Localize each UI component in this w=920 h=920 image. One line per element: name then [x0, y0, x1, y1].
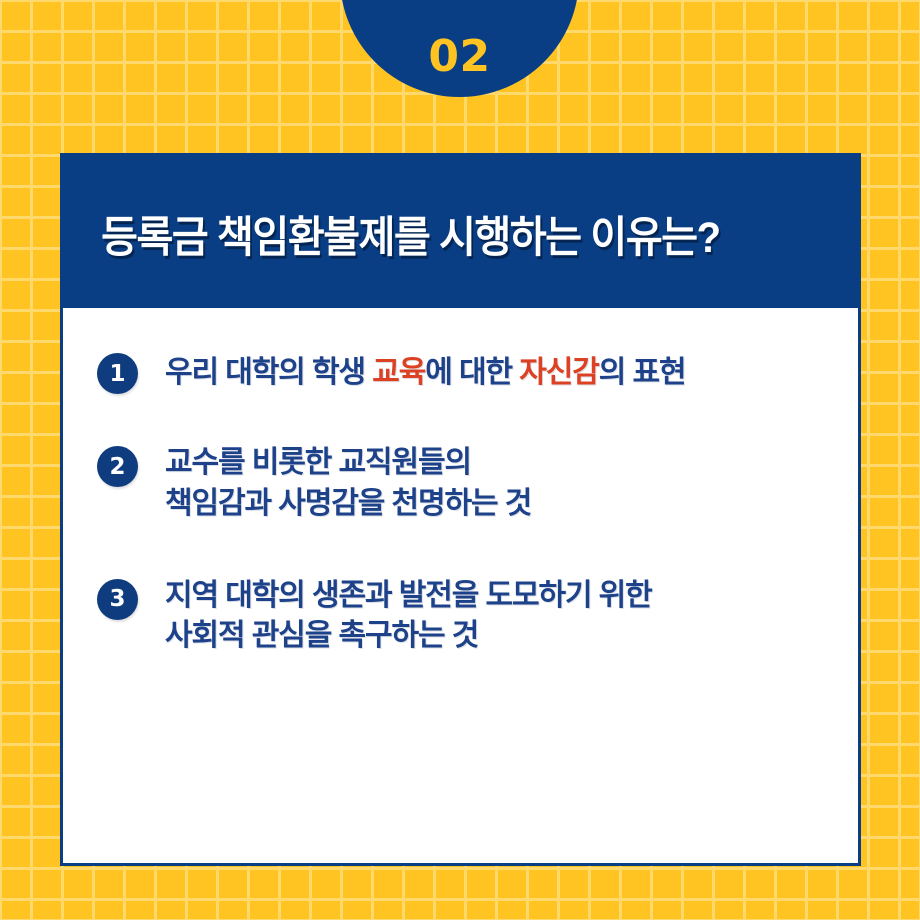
list-item-number-badge: 2	[97, 446, 138, 487]
list-item-text: 지역 대학의 생존과 발전을 도모하기 위한사회적 관심을 촉구하는 것	[165, 575, 652, 658]
card-header: 등록금 책임환불제를 시행하는 이유는?	[63, 156, 858, 308]
list-item: 1 우리 대학의 학생 교육에 대한 자신감의 표현	[97, 352, 824, 394]
highlighted-keyword: 자신감	[519, 356, 599, 389]
card-title: 등록금 책임환불제를 시행하는 이유는?	[63, 199, 720, 265]
content-card: 등록금 책임환불제를 시행하는 이유는? 1 우리 대학의 학생 교육에 대한 …	[60, 153, 861, 866]
card-body: 1 우리 대학의 학생 교육에 대한 자신감의 표현 2 교수를 비롯한 교직원…	[63, 308, 858, 657]
text-run: 교수를 비롯한 교직원들의	[165, 446, 471, 479]
text-run: 의 표현	[599, 356, 686, 389]
list-item-number-badge: 1	[97, 353, 138, 394]
text-line: 지역 대학의 생존과 발전을 도모하기 위한	[165, 576, 652, 617]
list-item-number-badge: 3	[97, 579, 138, 620]
text-line: 사회적 관심을 촉구하는 것	[165, 616, 652, 657]
infographic-canvas: 02 등록금 책임환불제를 시행하는 이유는? 1 우리 대학의 학생 교육에 …	[0, 0, 920, 920]
list-item: 2 교수를 비롯한 교직원들의책임감과 사명감을 천명하는 것	[97, 445, 824, 525]
list-item-text: 교수를 비롯한 교직원들의책임감과 사명감을 천명하는 것	[165, 442, 531, 525]
text-run: 사회적 관심을 촉구하는 것	[165, 619, 478, 652]
text-run: 지역 대학의 생존과 발전을 도모하기 위한	[165, 579, 652, 612]
section-number-circle: 02	[340, 0, 579, 97]
list-item: 3 지역 대학의 생존과 발전을 도모하기 위한사회적 관심을 촉구하는 것	[97, 578, 824, 658]
list-item-text: 우리 대학의 학생 교육에 대한 자신감의 표현	[165, 352, 685, 394]
text-run: 책임감과 사명감을 천명하는 것	[165, 487, 531, 520]
text-line: 우리 대학의 학생 교육에 대한 자신감의 표현	[165, 353, 685, 394]
text-run: 우리 대학의 학생	[165, 356, 372, 389]
text-line: 책임감과 사명감을 천명하는 것	[165, 484, 531, 525]
section-number-label: 02	[340, 35, 579, 79]
text-run: 에 대한	[425, 356, 519, 389]
highlighted-keyword: 교육	[372, 356, 425, 389]
text-line: 교수를 비롯한 교직원들의	[165, 443, 531, 484]
